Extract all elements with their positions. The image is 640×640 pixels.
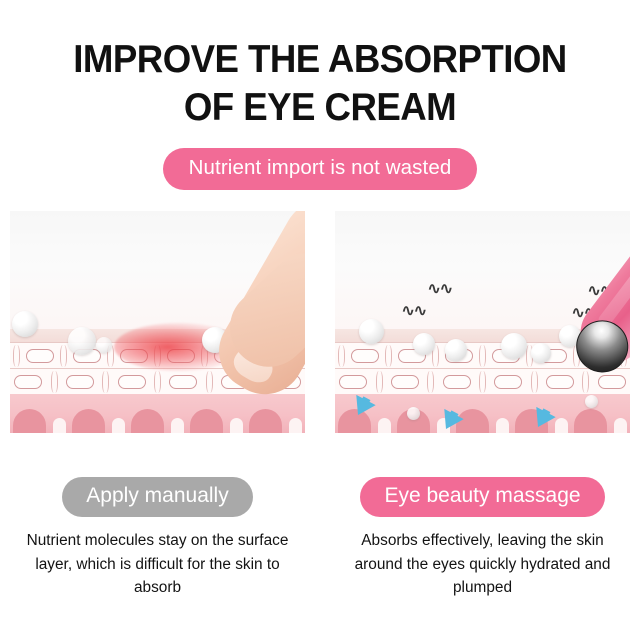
skin-cell: [118, 375, 146, 389]
nutrient-pearl: [359, 319, 384, 344]
dermal-papillae: [10, 407, 305, 433]
dermis-layer: [10, 394, 305, 433]
papilla: [249, 409, 282, 433]
panel-manual-application: [10, 211, 305, 433]
cell-junction: [427, 371, 434, 393]
page-title-line-1: IMPROVE THE ABSORPTION: [38, 36, 602, 84]
skin-cell: [391, 375, 419, 389]
cell-junction: [385, 345, 392, 367]
papilla-small: [289, 418, 302, 433]
skin-cell: [169, 375, 197, 389]
cell-junction: [102, 371, 109, 393]
epidermis-cell-row-lower: [335, 368, 630, 396]
caption-text-massage: Absorbs effectively, leaving the skin ar…: [335, 529, 630, 599]
papilla: [13, 409, 46, 433]
cell-junction: [531, 371, 538, 393]
papilla-small: [378, 418, 391, 433]
page-title: IMPROVE THE ABSORPTION OF EYE CREAM: [19, 0, 621, 131]
cell-junction: [13, 345, 20, 367]
panel-device-massage: ∿∿ ∿∿ ∿∿ ∿∿: [335, 211, 630, 433]
cell-junction: [479, 371, 486, 393]
skin-cell: [598, 375, 626, 389]
subtitle-badge: Nutrient import is not wasted: [163, 148, 478, 190]
papilla-small: [53, 418, 66, 433]
nutrient-pearl: [445, 339, 467, 361]
skin-cell: [26, 349, 54, 363]
skin-cell: [443, 375, 471, 389]
papilla: [190, 409, 223, 433]
papilla: [574, 409, 607, 433]
papilla-small: [614, 418, 627, 433]
caption-text-manual: Nutrient molecules stay on the surface l…: [10, 529, 305, 599]
caption-device-massage: Eye beauty massage Absorbs effectively, …: [335, 477, 630, 615]
page-title-line-2: OF EYE CREAM: [38, 84, 602, 132]
caption-badge-massage: Eye beauty massage: [360, 477, 604, 517]
caption-row: Apply manually Nutrient molecules stay o…: [0, 477, 640, 615]
cell-junction: [376, 371, 383, 393]
papilla-small: [230, 418, 243, 433]
cell-junction: [479, 345, 486, 367]
vibration-wave-icon: ∿∿: [401, 303, 426, 320]
papilla-small: [496, 418, 509, 433]
cell-junction: [51, 371, 58, 393]
cell-junction: [60, 345, 67, 367]
papilla-small: [555, 418, 568, 433]
papilla-small: [171, 418, 184, 433]
skin-cell: [14, 375, 42, 389]
vibration-wave-icon: ∿∿: [427, 281, 452, 298]
papilla-small: [112, 418, 125, 433]
nutrient-pearl: [413, 333, 435, 355]
cell-junction: [206, 371, 213, 393]
cell-junction: [154, 371, 161, 393]
caption-badge-manual: Apply manually: [62, 477, 252, 517]
illustration-row: ∿∿ ∿∿ ∿∿ ∿∿: [0, 211, 640, 433]
papilla: [72, 409, 105, 433]
nutrient-pearl: [501, 333, 527, 359]
cell-junction: [582, 371, 589, 393]
caption-manual-application: Apply manually Nutrient molecules stay o…: [10, 477, 305, 615]
cell-junction: [338, 345, 345, 367]
dermal-papillae: [335, 407, 630, 433]
nutrient-pearl: [12, 311, 38, 337]
skin-cell: [494, 375, 522, 389]
skin-cell: [351, 349, 379, 363]
nutrient-pearl: [68, 327, 96, 355]
skin-cell: [66, 375, 94, 389]
skin-cell: [546, 375, 574, 389]
papilla: [131, 409, 164, 433]
skin-cell: [339, 375, 367, 389]
subtitle-row: Nutrient import is not wasted: [0, 148, 640, 190]
